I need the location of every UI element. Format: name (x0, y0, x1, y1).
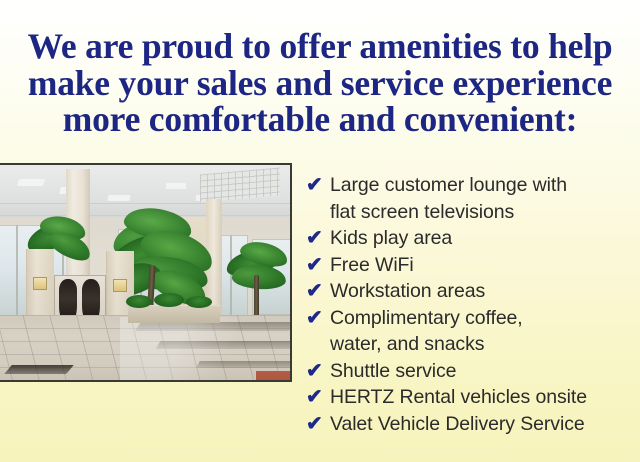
shrub (154, 293, 184, 307)
palm-trunk (254, 275, 259, 317)
checkmark-icon: ✔ (306, 225, 330, 252)
wall-sconce (33, 277, 47, 290)
list-item: ✔ Workstation areas (306, 278, 640, 305)
ceiling-seam (0, 203, 292, 204)
shrub (186, 296, 212, 308)
amenity-line-1: Large customer lounge with (330, 174, 567, 196)
list-item: ✔ Large customer lounge with flat screen… (306, 172, 640, 225)
page-title: We are proud to offer amenities to help … (0, 28, 640, 138)
ceiling-light (166, 183, 186, 189)
headline-line-1: We are proud to offer amenities to help (0, 28, 640, 65)
list-item: ✔ Complimentary coffee, water, and snack… (306, 305, 640, 358)
list-item: ✔ HERTZ Rental vehicles onsite (306, 384, 640, 411)
window-mullion (16, 225, 18, 321)
amenity-text: Large customer lounge with flat screen t… (330, 172, 640, 225)
amenity-text: Kids play area (330, 225, 640, 252)
shrub (126, 295, 152, 308)
floor-dark-inlay (4, 365, 74, 374)
amenity-line-1: Complimentary coffee, (330, 307, 523, 329)
red-fixture (256, 371, 292, 382)
amenities-list: ✔ Large customer lounge with flat screen… (306, 172, 640, 437)
amenity-line-1: Workstation areas (330, 280, 485, 302)
checkmark-icon: ✔ (306, 305, 330, 332)
amenity-text: Workstation areas (330, 278, 640, 305)
ceiling-light (17, 179, 45, 186)
checkmark-icon: ✔ (306, 172, 330, 199)
list-item: ✔ Shuttle service (306, 358, 640, 385)
checkmark-icon: ✔ (306, 411, 330, 438)
amenity-line-2: water, and snacks (330, 331, 640, 358)
checkmark-icon: ✔ (306, 384, 330, 411)
headline-line-2: make your sales and service experience (0, 65, 640, 102)
lobby-photo (0, 163, 292, 382)
wall-sconce (113, 279, 127, 292)
amenity-line-1: Free WiFi (330, 254, 414, 276)
amenity-text: Complimentary coffee, water, and snacks (330, 305, 640, 358)
checkmark-icon: ✔ (306, 358, 330, 385)
amenity-text: HERTZ Rental vehicles onsite (330, 384, 640, 411)
amenity-line-1: Shuttle service (330, 360, 456, 382)
amenity-text: Shuttle service (330, 358, 640, 385)
checkmark-icon: ✔ (306, 252, 330, 279)
amenity-line-1: Kids play area (330, 227, 452, 249)
ceiling-light (107, 195, 130, 201)
list-item: ✔ Kids play area (306, 225, 640, 252)
headline-line-3: more comfortable and convenient: (0, 101, 640, 138)
amenity-line-2: flat screen televisions (330, 199, 640, 226)
checkmark-icon: ✔ (306, 278, 330, 305)
list-item: ✔ Free WiFi (306, 252, 640, 279)
amenity-text: Valet Vehicle Delivery Service (330, 411, 640, 438)
amenity-line-1: HERTZ Rental vehicles onsite (330, 386, 587, 408)
amenity-text: Free WiFi (330, 252, 640, 279)
list-item: ✔ Valet Vehicle Delivery Service (306, 411, 640, 438)
amenity-line-1: Valet Vehicle Delivery Service (330, 413, 585, 435)
